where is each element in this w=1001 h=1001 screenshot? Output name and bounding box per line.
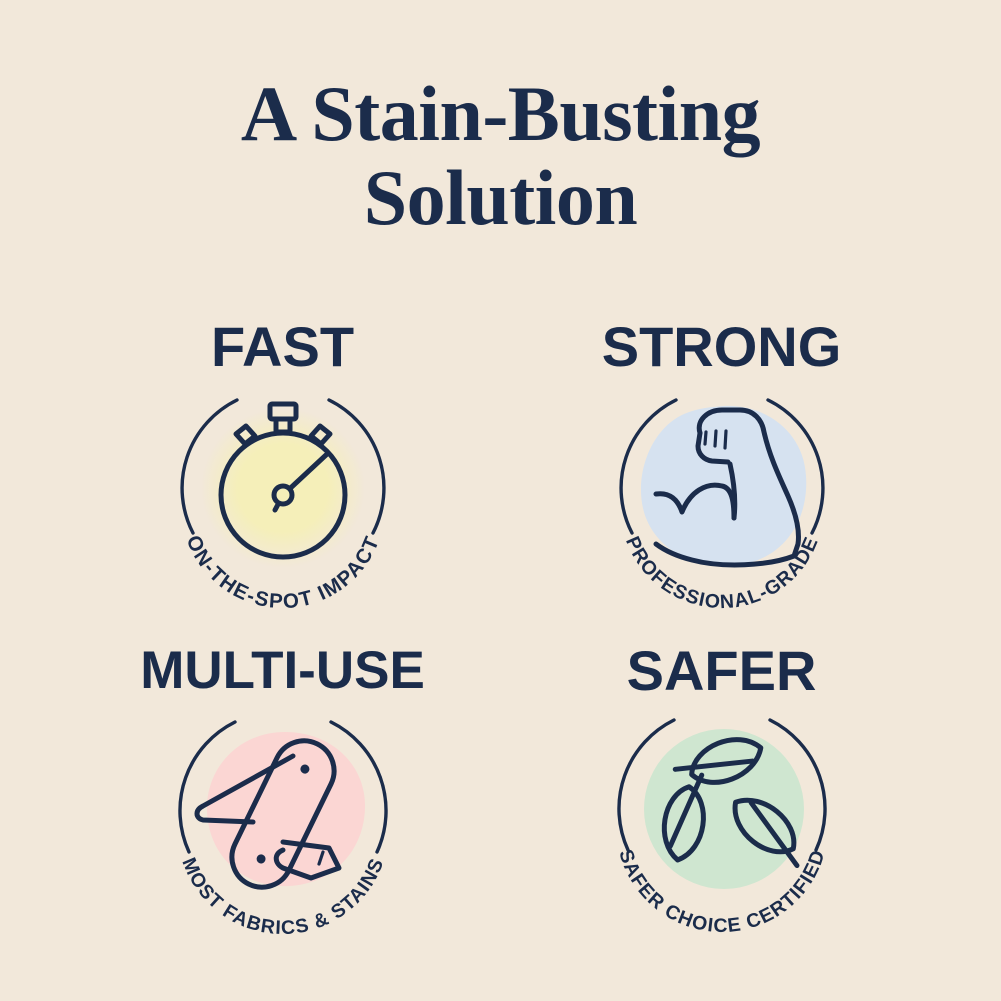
title-line-1: A Stain-Busting [0,72,1001,156]
badge-heading-safer: SAFER [627,642,817,700]
infographic-page: A Stain-Busting Solution FAST [0,0,1001,1001]
emblem-fast: ON-THE-SPOT IMPACT [133,378,433,630]
badge-grid: FAST [72,318,932,958]
title-line-2: Solution [0,156,1001,240]
badge-fast: FAST [72,318,493,634]
emblem-safer: SAFER CHOICE CERTIFIED [572,702,872,954]
badge-heading-fast: FAST [211,318,354,376]
badge-heading-strong: STRONG [602,318,842,376]
emblem-strong: PROFESSIONAL-GRADE [572,378,872,630]
badge-multi-use: MULTI-USE [72,642,493,958]
badge-heading-multi-use: MULTI-USE [140,642,425,700]
emblem-multi-use: MOST FABRICS & STAINS [133,702,433,954]
page-title: A Stain-Busting Solution [0,72,1001,240]
badge-strong: STRONG [511,318,932,634]
badge-safer: SAFER [511,642,932,958]
